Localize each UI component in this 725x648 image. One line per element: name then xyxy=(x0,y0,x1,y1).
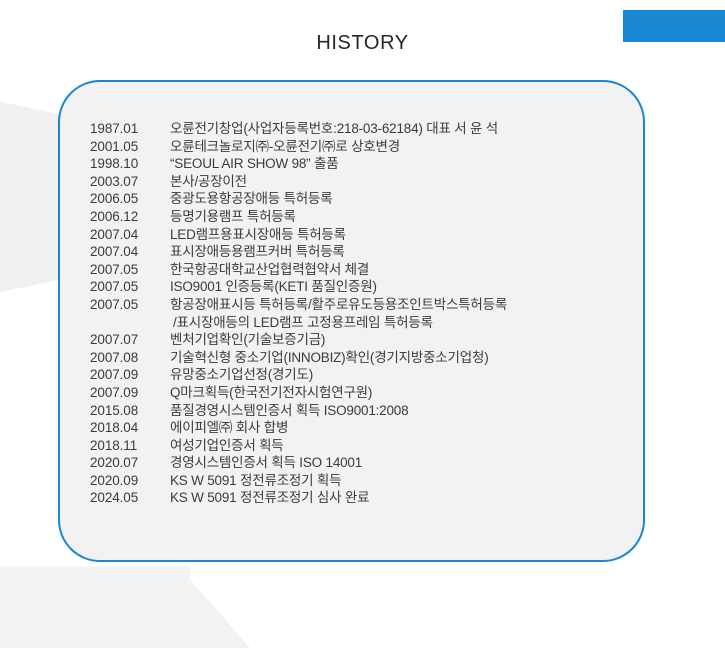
history-row: 2020.09KS W 5091 정전류조정기 획득 xyxy=(90,472,625,490)
history-description: 항공장애표시등 특허등록/활주로유도등용조인트박스특허등록/표시장애등의 LED… xyxy=(170,296,625,331)
page-title: HISTORY xyxy=(0,30,725,56)
history-date: 2024.05 xyxy=(90,489,170,507)
history-row: 2007.09유망중소기업선정(경기도) xyxy=(90,366,625,384)
history-description-continuation: /표시장애등의 LED램프 고정용프레임 특허등록 xyxy=(170,314,625,332)
history-row: 2007.05ISO9001 인증등록(KETI 품질인증원) xyxy=(90,278,625,296)
history-row: 2020.07경영시스템인증서 획득 ISO 14001 xyxy=(90,454,625,472)
history-description: 표시장애등용램프커버 특허등록 xyxy=(170,243,625,261)
history-row: 2007.08기술혁신형 중소기업(INNOBIZ)확인(경기지방중소기업청) xyxy=(90,349,625,367)
history-row: 2024.05KS W 5091 정전류조정기 심사 완료 xyxy=(90,489,625,507)
history-description: 기술혁신형 중소기업(INNOBIZ)확인(경기지방중소기업청) xyxy=(170,349,625,367)
history-date: 2007.09 xyxy=(90,384,170,402)
history-date: 2007.09 xyxy=(90,366,170,384)
history-date: 2006.05 xyxy=(90,190,170,208)
history-description: LED램프용표시장애등 특허등록 xyxy=(170,226,625,244)
history-date: 2018.11 xyxy=(90,437,170,455)
history-date: 2007.05 xyxy=(90,261,170,279)
history-date: 1998.10 xyxy=(90,155,170,173)
history-row: 2003.07본사/공장이전 xyxy=(90,173,625,191)
history-list: 1987.01오륜전기창업(사업자등록번호:218-03-62184) 대표 서… xyxy=(90,120,625,507)
history-description: 품질경영시스템인증서 획득 ISO9001:2008 xyxy=(170,402,625,420)
history-row: 2018.04에이피엘㈜ 회사 합병 xyxy=(90,419,625,437)
history-date: 2001.05 xyxy=(90,138,170,156)
history-date: 2007.05 xyxy=(90,278,170,296)
history-date: 2007.07 xyxy=(90,331,170,349)
history-description: 오륜전기창업(사업자등록번호:218-03-62184) 대표 서 윤 석 xyxy=(170,120,625,138)
history-date: 2007.08 xyxy=(90,349,170,367)
history-row: 1987.01오륜전기창업(사업자등록번호:218-03-62184) 대표 서… xyxy=(90,120,625,138)
history-date: 2006.12 xyxy=(90,208,170,226)
history-description: KS W 5091 정전류조정기 심사 완료 xyxy=(170,489,625,507)
background-wedge-bottom xyxy=(0,568,250,648)
history-row: 2007.05한국항공대학교산업협력협약서 체결 xyxy=(90,261,625,279)
history-row: 2007.04표시장애등용램프커버 특허등록 xyxy=(90,243,625,261)
history-date: 2007.04 xyxy=(90,226,170,244)
history-description: 경영시스템인증서 획득 ISO 14001 xyxy=(170,454,625,472)
history-date: 2018.04 xyxy=(90,419,170,437)
history-description: 오륜테크놀로지㈜-오륜전기㈜로 상호변경 xyxy=(170,138,625,156)
history-date: 2007.04 xyxy=(90,243,170,261)
history-row: 2018.11여성기업인증서 획득 xyxy=(90,437,625,455)
history-row: 1998.10“SEOUL AIR SHOW 98” 출품 xyxy=(90,155,625,173)
history-row: 2007.07벤처기업확인(기술보증기금) xyxy=(90,331,625,349)
history-description: 등명기용램프 특허등록 xyxy=(170,208,625,226)
history-row: 2001.05오륜테크놀로지㈜-오륜전기㈜로 상호변경 xyxy=(90,138,625,156)
history-description-line: 항공장애표시등 특허등록/활주로유도등용조인트박스특허등록 xyxy=(170,297,507,312)
history-date: 2007.05 xyxy=(90,296,170,314)
history-row: 2007.05항공장애표시등 특허등록/활주로유도등용조인트박스특허등록/표시장… xyxy=(90,296,625,331)
history-row: 2006.05중광도용항공장애등 특허등록 xyxy=(90,190,625,208)
history-description: 한국항공대학교산업협력협약서 체결 xyxy=(170,261,625,279)
history-description: ISO9001 인증등록(KETI 품질인증원) xyxy=(170,278,625,296)
history-date: 2020.07 xyxy=(90,454,170,472)
history-date: 2003.07 xyxy=(90,173,170,191)
history-description: 중광도용항공장애등 특허등록 xyxy=(170,190,625,208)
history-description: 여성기업인증서 획득 xyxy=(170,437,625,455)
history-row: 2015.08품질경영시스템인증서 획득 ISO9001:2008 xyxy=(90,402,625,420)
history-description: 본사/공장이전 xyxy=(170,173,625,191)
history-description: Q마크획득(한국전기전자시험연구원) xyxy=(170,384,625,402)
history-date: 1987.01 xyxy=(90,120,170,138)
history-row: 2006.12등명기용램프 특허등록 xyxy=(90,208,625,226)
history-card: 1987.01오륜전기창업(사업자등록번호:218-03-62184) 대표 서… xyxy=(58,80,645,562)
history-date: 2020.09 xyxy=(90,472,170,490)
history-date: 2015.08 xyxy=(90,402,170,420)
history-row: 2007.04LED램프용표시장애등 특허등록 xyxy=(90,226,625,244)
history-description: 유망중소기업선정(경기도) xyxy=(170,366,625,384)
history-description: “SEOUL AIR SHOW 98” 출품 xyxy=(170,155,625,173)
history-description: KS W 5091 정전류조정기 획득 xyxy=(170,472,625,490)
history-description: 에이피엘㈜ 회사 합병 xyxy=(170,419,625,437)
history-description: 벤처기업확인(기술보증기금) xyxy=(170,331,625,349)
history-row: 2007.09Q마크획득(한국전기전자시험연구원) xyxy=(90,384,625,402)
